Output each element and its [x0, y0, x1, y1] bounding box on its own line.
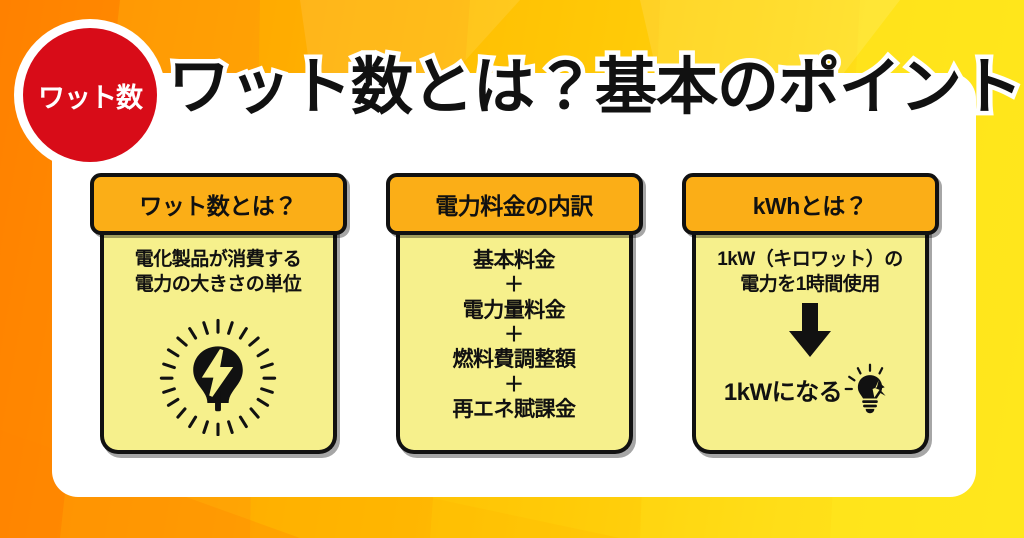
card-header-label: ワット数とは？ — [139, 187, 297, 221]
card-body: 1kW（キロワット）の 電力を1時間使用 1kWになる — [692, 229, 929, 454]
category-badge-circle: ワット数 — [23, 28, 157, 162]
card-body-line: 燃料費調整額 — [453, 346, 576, 373]
card-body-line: 1kW（キロワット）の — [717, 247, 903, 272]
card-body-line: 再エネ賦課金 — [453, 396, 576, 423]
card-body-line: 電力を1時間使用 — [740, 272, 880, 297]
card-header: 電力料金の内訳 — [386, 173, 643, 235]
card-body-line: 基本料金 — [473, 247, 555, 274]
card-header-label: kWhとは？ — [753, 187, 868, 221]
card-body-line: 電化製品が消費する — [135, 247, 302, 272]
category-badge-label: ワット数 — [38, 76, 142, 115]
page-title: ワット数とは？基本のポイント — [168, 36, 1022, 126]
card-header-label: 電力料金の内訳 — [435, 187, 593, 221]
card-body: 基本料金 ＋ 電力量料金 ＋ 燃料費調整額 ＋ 再エネ賦課金 — [396, 229, 633, 454]
plus-separator: ＋ — [504, 324, 524, 346]
card-body: 電化製品が消費する 電力の大きさの単位 — [100, 229, 337, 454]
category-badge: ワット数 — [14, 19, 166, 171]
plus-separator: ＋ — [504, 374, 524, 396]
lightbulb-bolt-icon — [844, 363, 896, 415]
card-watt-definition: ワット数とは？ 電化製品が消費する 電力の大きさの単位 — [90, 173, 347, 473]
card-header: ワット数とは？ — [90, 173, 347, 235]
card-electricity-bill-breakdown: 電力料金の内訳 基本料金 ＋ 電力量料金 ＋ 燃料費調整額 ＋ 再エネ賦課金 — [386, 173, 643, 473]
card-body-line: 電力量料金 — [463, 297, 566, 324]
down-arrow-icon — [787, 303, 833, 357]
lightbulb-bolt-rays-icon — [159, 318, 277, 436]
card-body-line: 電力の大きさの単位 — [135, 272, 302, 297]
result-row: 1kWになる — [724, 363, 896, 415]
plus-separator: ＋ — [504, 274, 524, 296]
card-header: kWhとは？ — [682, 173, 939, 235]
cards-row: ワット数とは？ 電化製品が消費する 電力の大きさの単位 — [52, 173, 976, 473]
infographic-canvas: ワット数とは？基本のポイント ワット数 ワット数とは？ 電化製品が消費する 電力… — [0, 0, 1024, 538]
card-kwh-definition: kWhとは？ 1kW（キロワット）の 電力を1時間使用 1kWになる — [682, 173, 939, 473]
result-label: 1kWになる — [724, 372, 842, 407]
